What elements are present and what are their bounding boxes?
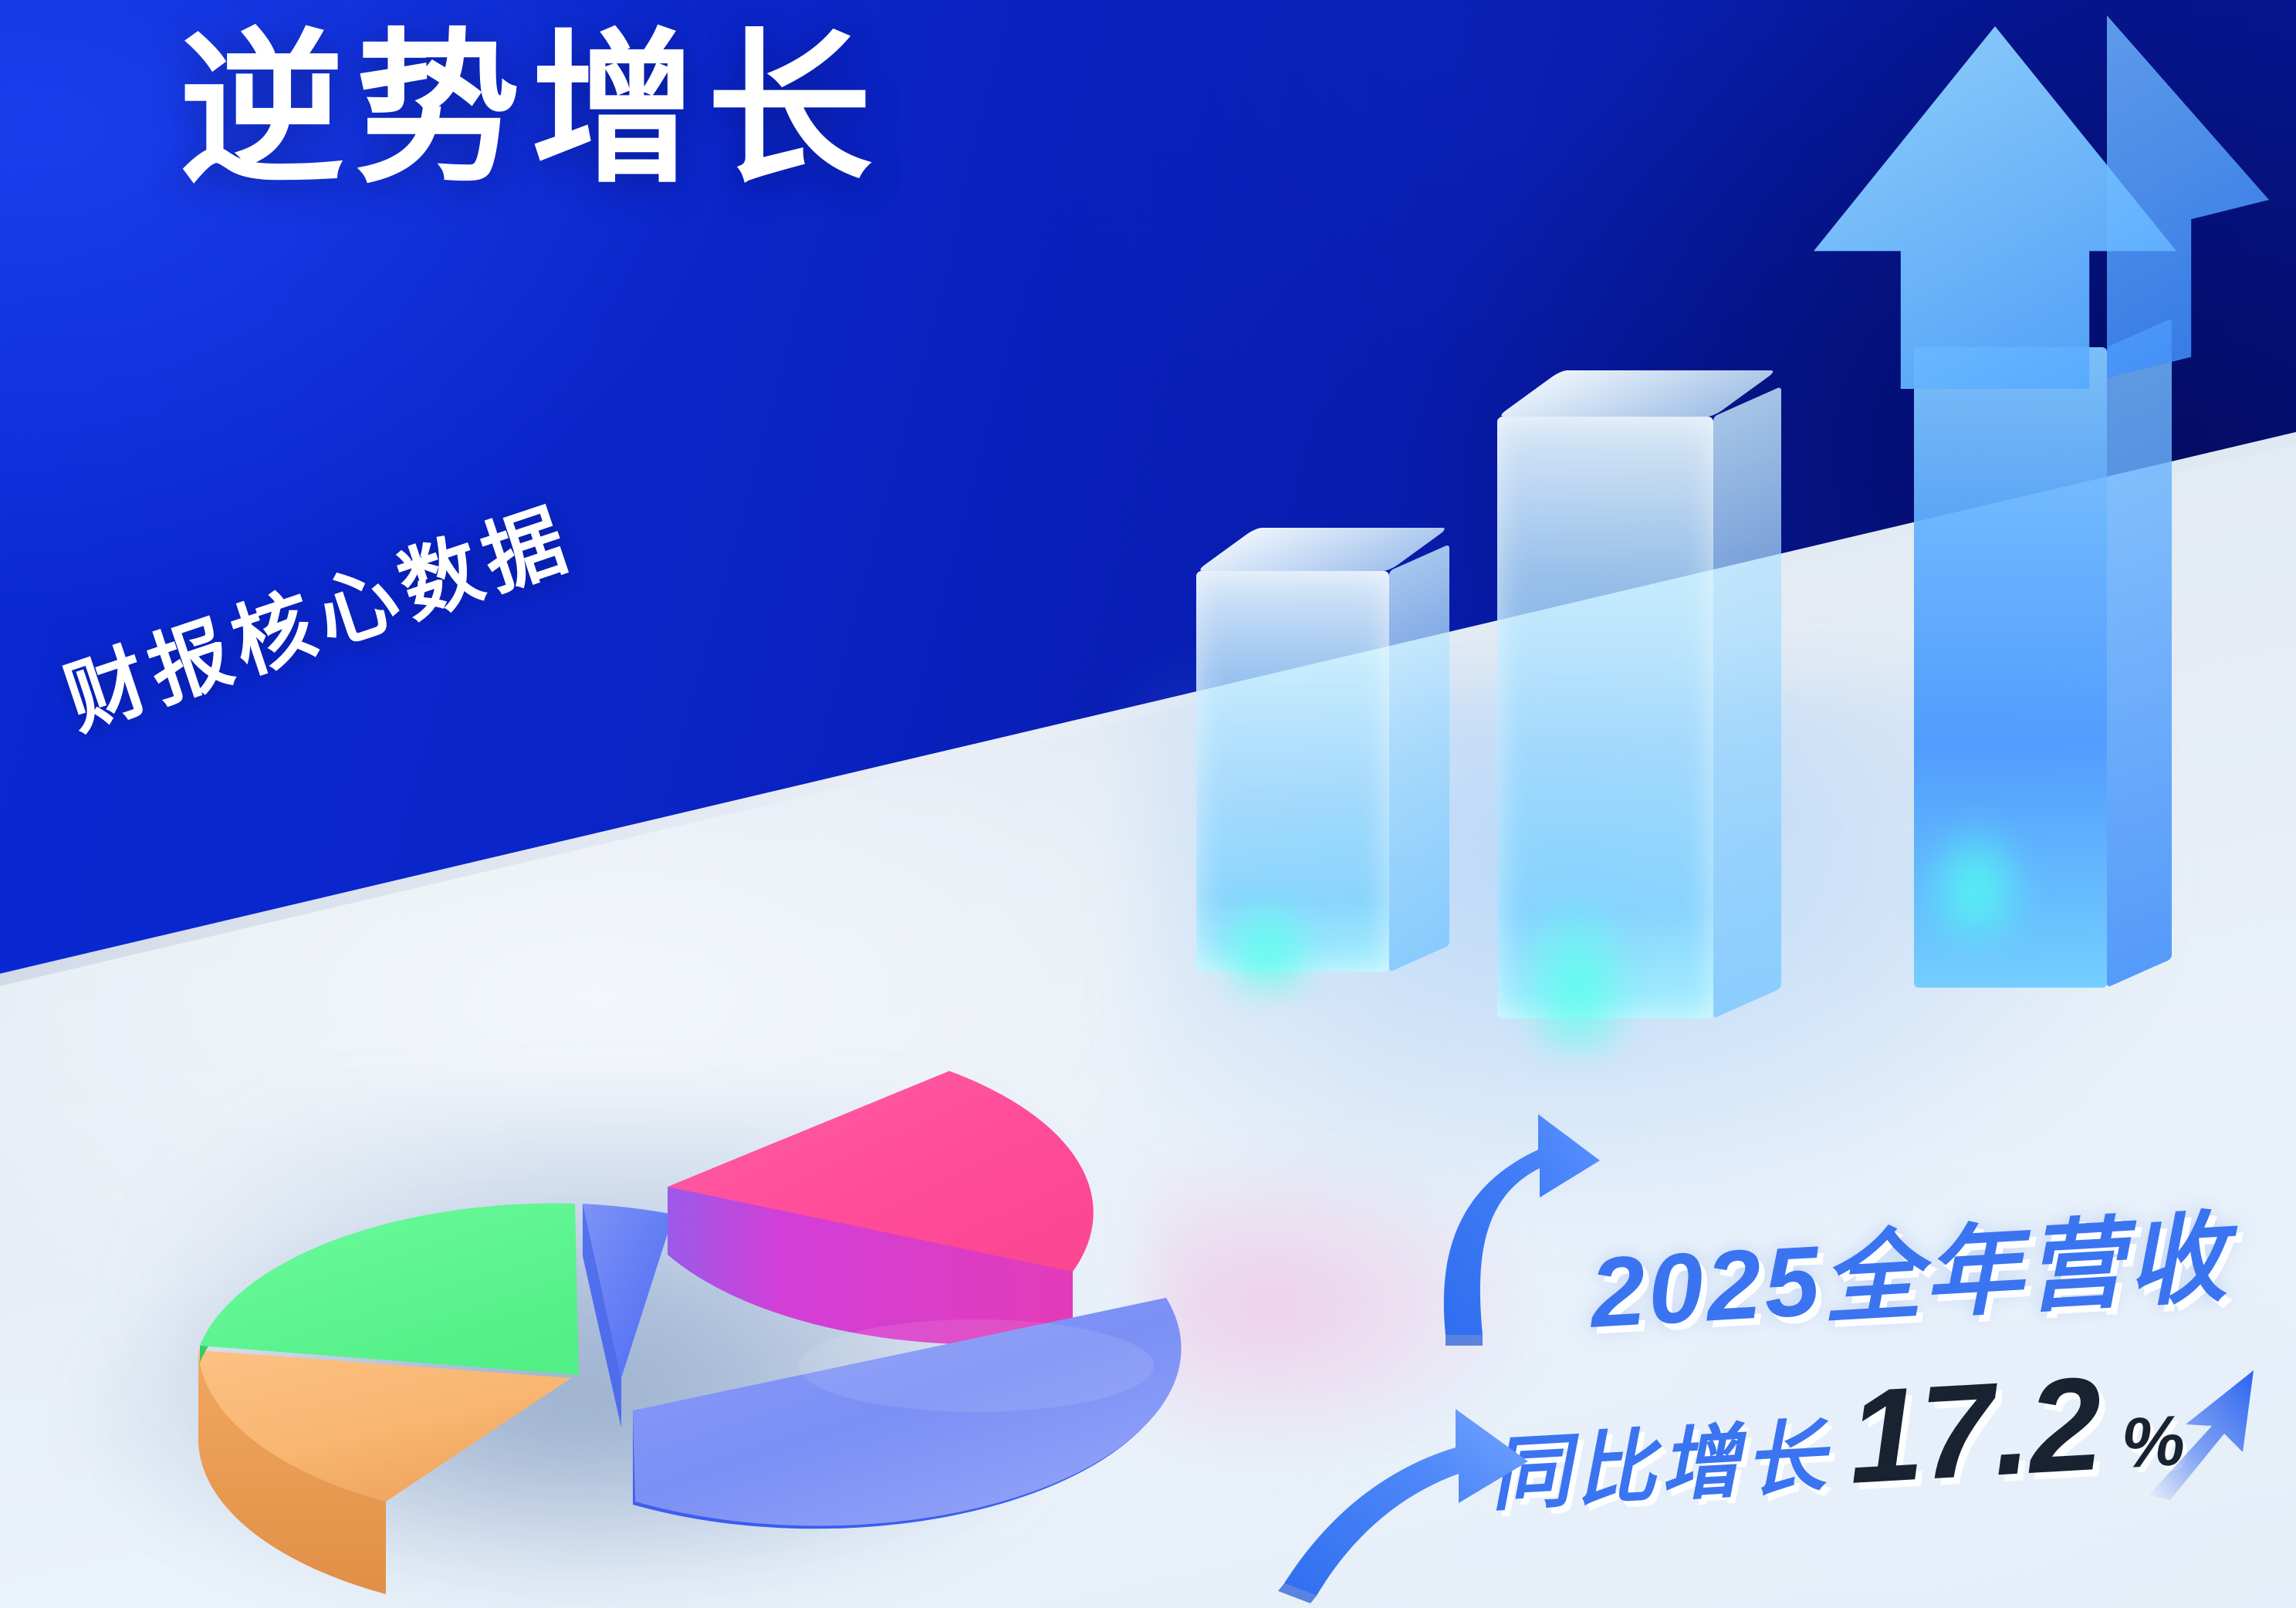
arrow-shaft-side xyxy=(2107,319,2172,988)
growth-value: 17.2 xyxy=(1845,1347,2105,1514)
bar-base-glow xyxy=(1510,886,1645,1054)
pie-chart-svg xyxy=(189,949,1347,1608)
diagonal-arrow-up-right-icon xyxy=(2138,1360,2284,1506)
curved-arrow-up-right-icon-2 xyxy=(1266,1296,1574,1605)
bar-side-face xyxy=(1713,387,1781,1019)
pie-specular-highlight xyxy=(799,1319,1154,1412)
pie-chart-3d xyxy=(189,949,1347,1608)
poster-canvas: 逆势增长 财报核心数据 2025全年营收 同比增长 17.2 % xyxy=(0,0,2296,1608)
pie-slice-blue-sliver xyxy=(583,1204,674,1427)
page-subtitle: 财报核心数据 xyxy=(48,473,586,751)
glass-arrow-up-icon xyxy=(1814,15,2292,988)
pie-slice-pink xyxy=(668,1071,1094,1345)
glass-bar-small xyxy=(1196,571,1389,972)
arrow-base-glow xyxy=(1914,810,2037,941)
glass-bar-medium xyxy=(1497,417,1713,1019)
pie-slice-green xyxy=(200,1204,579,1375)
bar-side-face xyxy=(1389,544,1449,972)
page-title: 逆势增长 xyxy=(179,26,883,194)
glass-bar-chart xyxy=(1173,0,2296,1019)
pie-slice-orange xyxy=(198,1350,571,1594)
